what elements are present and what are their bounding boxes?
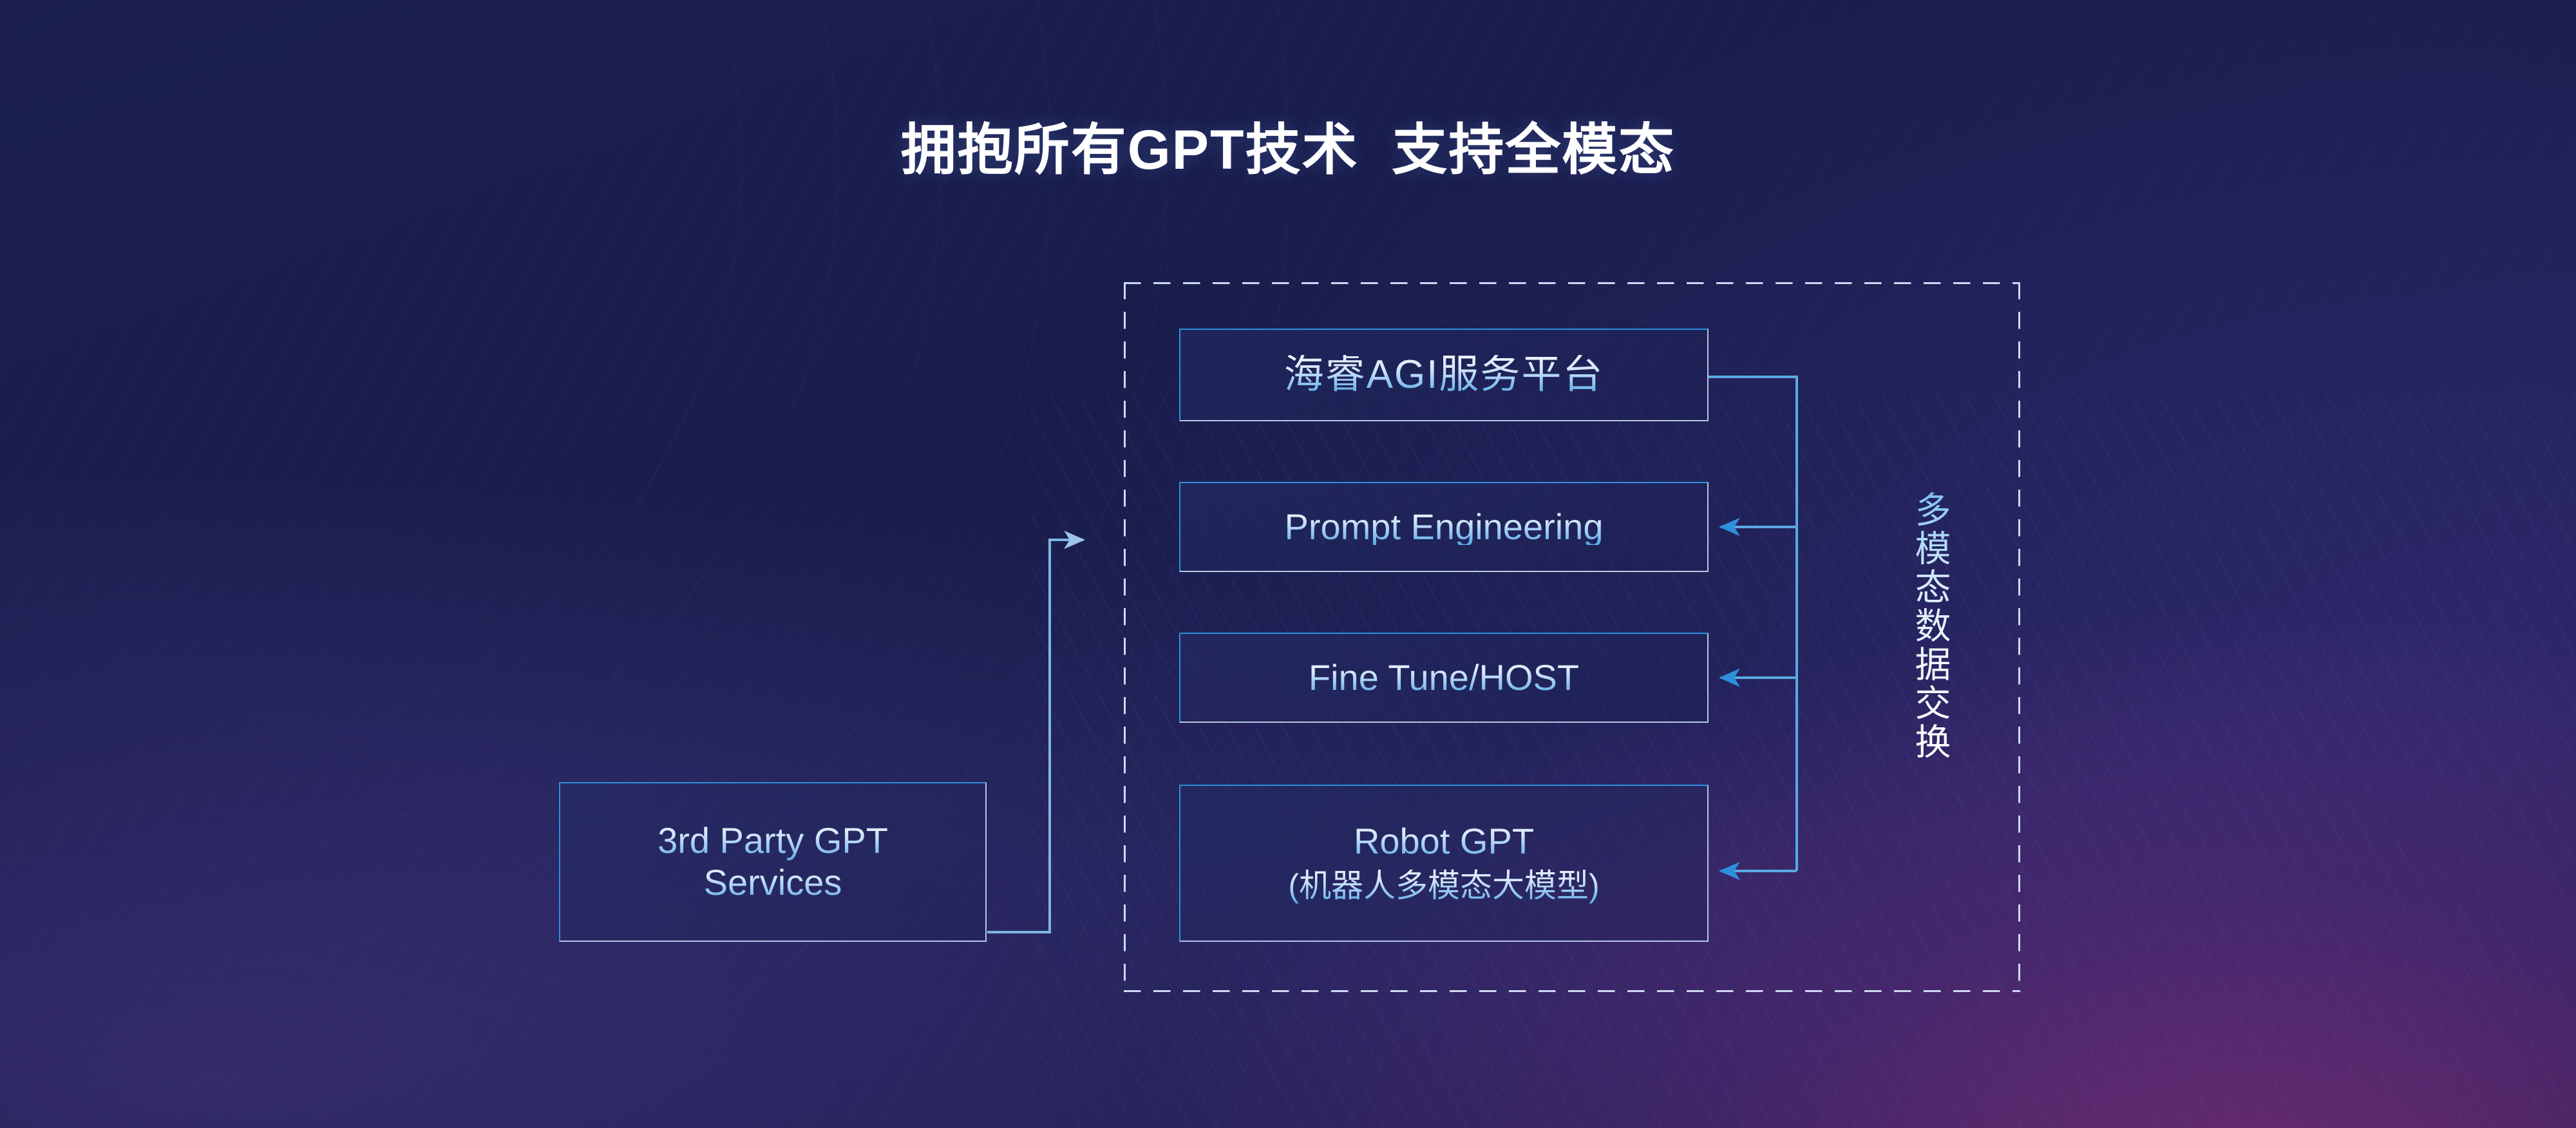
- node-agi-platform[interactable]: 海睿AGI服务平台: [1179, 329, 1709, 421]
- node-third-party-gpt-services[interactable]: 3rd Party GPT Services: [559, 782, 987, 942]
- node-third-party-label: 3rd Party GPT: [658, 820, 888, 862]
- node-robot-gpt-sublabel: (机器人多模态大模型): [1288, 866, 1599, 905]
- node-robot-gpt-label: Robot GPT: [1354, 821, 1534, 862]
- bus-trunk-line: [1709, 377, 1797, 871]
- node-prompt-engineering-label: Prompt Engineering: [1285, 509, 1604, 545]
- multimodal-data-exchange-label: 多模态数据交换: [1903, 491, 1949, 761]
- node-agi-platform-label: 海睿AGI服务平台: [1284, 355, 1604, 395]
- arrow-into-platform: [987, 540, 1083, 932]
- node-robot-gpt[interactable]: Robot GPT (机器人多模态大模型): [1179, 785, 1709, 942]
- node-fine-tune-host[interactable]: Fine Tune/HOST: [1179, 633, 1709, 723]
- node-fine-tune-host-label: Fine Tune/HOST: [1309, 660, 1579, 696]
- multimodal-bus-wire: [1709, 377, 1797, 871]
- node-prompt-engineering[interactable]: Prompt Engineering: [1179, 482, 1709, 572]
- slide-canvas: 拥抱所有GPT技术 支持全模态 海睿AGI服务平台: [0, 0, 2576, 1128]
- third-party-wire: [987, 540, 1083, 932]
- node-third-party-sublabel: Services: [704, 862, 842, 904]
